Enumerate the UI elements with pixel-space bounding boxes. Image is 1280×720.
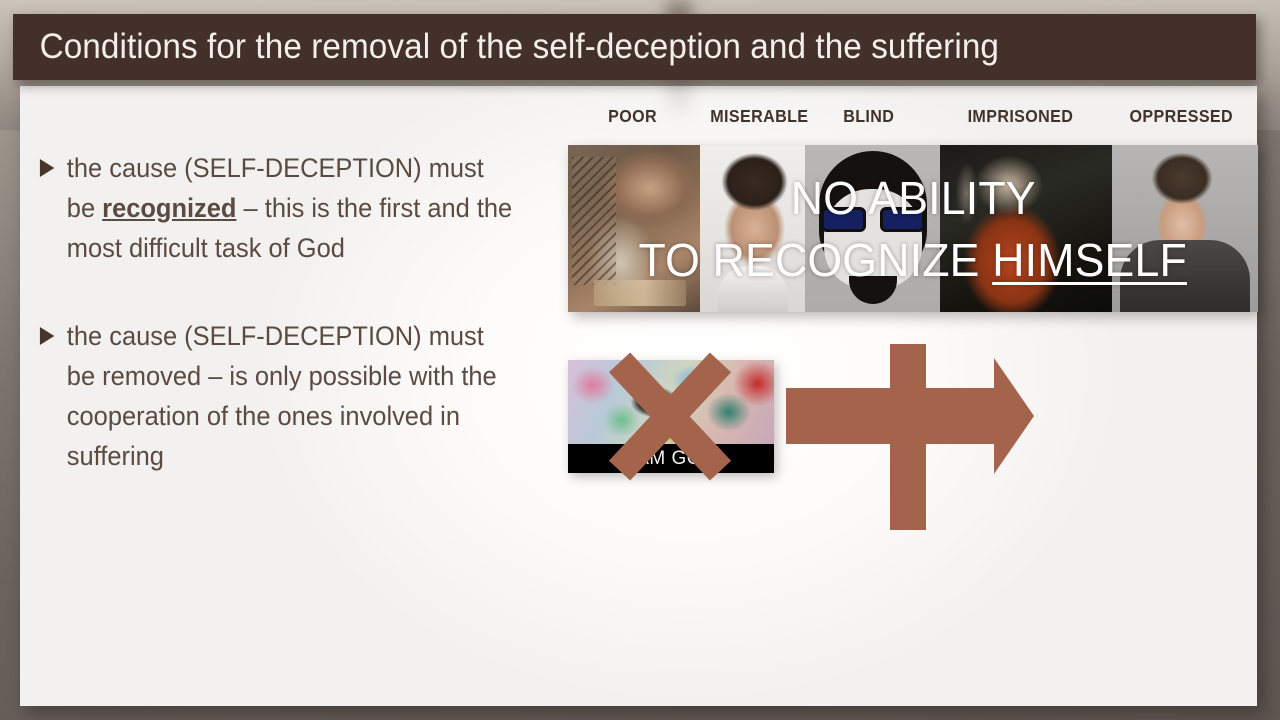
photo-strip: NO ABILITY TO RECOGNIZE HIMSELF	[568, 145, 1258, 312]
category-label-miserable: MISERABLE	[710, 106, 808, 127]
prisoner-photo	[940, 145, 1112, 312]
list-item: the cause (SELF-DECEPTION) must be recog…	[38, 148, 518, 268]
list-item: the cause (SELF-DECEPTION) must be remov…	[38, 316, 518, 476]
category-label-imprisoned: IMPRISONED	[968, 106, 1074, 127]
sunglasses-face-icon	[805, 145, 940, 312]
poor-man-photo	[568, 145, 700, 312]
bullet-text-prefix: the cause (SELF-DECEPTION) must be remov…	[67, 321, 497, 471]
face-beard-shape	[849, 276, 897, 304]
face-skin-shape	[824, 189, 922, 289]
triangle-bullet-icon	[40, 159, 54, 177]
eye-caption-bar: I AM GOD	[568, 444, 774, 473]
colorful-eye-image: I AM GOD	[568, 360, 774, 473]
lens-right	[880, 207, 925, 232]
page-title: Conditions for the removal of the self-d…	[13, 27, 999, 67]
category-label-row: POOR MISERABLE BLIND IMPRISONED OPPRESSE…	[568, 106, 1258, 134]
cross-arrow-icon	[786, 344, 1034, 534]
slide-canvas: Conditions for the removal of the self-d…	[0, 0, 1280, 720]
eye-caption-text: I AM GOD	[626, 448, 717, 470]
sunglasses-shape	[821, 207, 925, 232]
category-label-oppressed: OPPRESSED	[1130, 106, 1234, 127]
triangle-bullet-icon	[40, 327, 54, 345]
bullet-list: the cause (SELF-DECEPTION) must be recog…	[38, 148, 538, 476]
category-label-blind: BLIND	[843, 106, 894, 127]
thinking-man-photo	[700, 145, 805, 312]
slide-title-bar: Conditions for the removal of the self-d…	[13, 14, 1256, 80]
lens-left	[821, 207, 866, 232]
category-label-poor: POOR	[608, 106, 657, 127]
bullet-text-emphasis: recognized	[102, 193, 236, 223]
eye-artwork	[568, 360, 774, 444]
covering-face-photo	[1112, 145, 1258, 312]
